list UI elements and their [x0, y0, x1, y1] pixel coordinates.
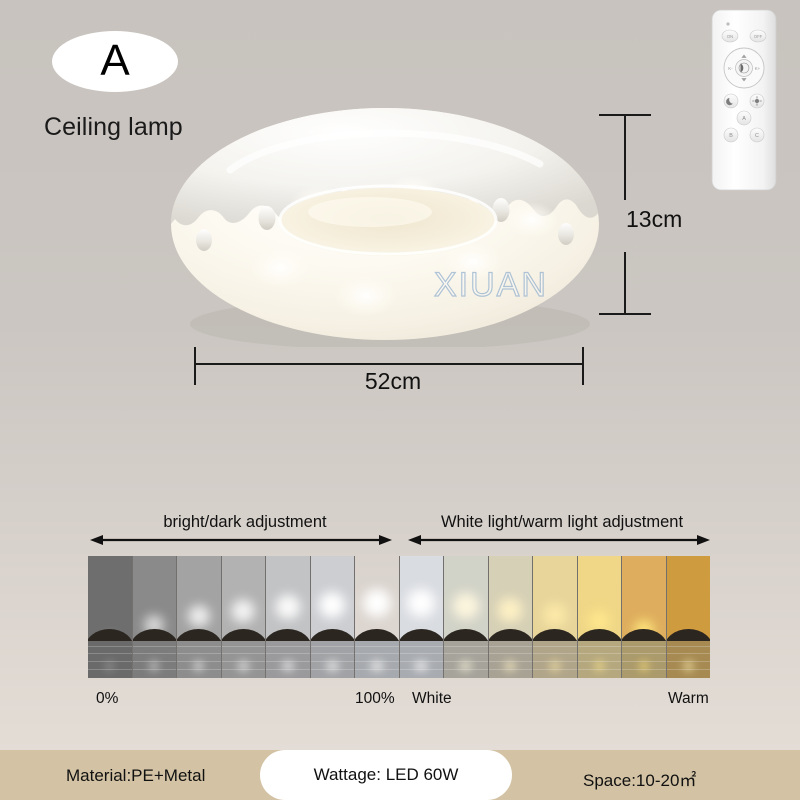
- panel-ripple: [578, 653, 622, 655]
- panel-ripple: [489, 669, 533, 671]
- panel-ripple: [266, 646, 310, 648]
- demo-panel: [311, 556, 356, 678]
- panel-ripple: [444, 661, 488, 663]
- panel-ripple: [311, 661, 355, 663]
- ceiling-lamp-image: [160, 72, 610, 347]
- demo-panel: [533, 556, 578, 678]
- panel-ripple: [533, 653, 577, 655]
- demo-panel: [578, 556, 623, 678]
- panel-ripple: [578, 661, 622, 663]
- panel-ripple: [177, 646, 221, 648]
- panel-ripple: [266, 669, 310, 671]
- panel-ripple: [88, 669, 132, 671]
- dim-width-label: 52cm: [365, 368, 421, 395]
- dim-height-label: 13cm: [626, 206, 682, 233]
- panel-ripple: [133, 669, 177, 671]
- dim-height-line-lower: [624, 252, 626, 314]
- spec-wattage-pill: Wattage: LED 60W: [260, 750, 512, 800]
- spec-space: Space:10-20㎡: [583, 766, 696, 791]
- dim-width-right-tick: [582, 347, 584, 385]
- color-temp-range-arrow: [408, 532, 710, 548]
- brightness-color-demo-strip: [88, 556, 710, 678]
- panel-ripple: [133, 653, 177, 655]
- variant-badge-letter: A: [100, 39, 129, 83]
- panel-ripple: [489, 646, 533, 648]
- spec-material: Material:PE+Metal: [66, 766, 205, 786]
- panel-ripple: [667, 646, 711, 648]
- svg-text:K+: K+: [755, 66, 761, 71]
- panel-ripple: [400, 669, 444, 671]
- svg-text:OFF: OFF: [754, 34, 763, 39]
- panel-ripple: [578, 646, 622, 648]
- panel-ripple: [133, 646, 177, 648]
- brightness-range-arrow: [90, 532, 392, 548]
- demo-panel: [667, 556, 711, 678]
- demo-panel: [266, 556, 311, 678]
- panel-sun: [359, 585, 395, 621]
- panel-ripple: [489, 653, 533, 655]
- brightness-adjustment-label: bright/dark adjustment: [163, 513, 326, 532]
- panel-ripple: [311, 646, 355, 648]
- panel-ripple: [444, 646, 488, 648]
- panel-sun: [540, 600, 570, 630]
- demo-panel: [177, 556, 222, 678]
- panel-ripple: [355, 661, 399, 663]
- caption-warm-light: Warm: [668, 690, 709, 708]
- panel-ripple: [533, 661, 577, 663]
- panel-ripple: [400, 653, 444, 655]
- caption-max-brightness: 100%: [355, 690, 395, 708]
- panel-ripple: [133, 661, 177, 663]
- panel-ripple: [489, 661, 533, 663]
- demo-panel: [489, 556, 534, 678]
- panel-ripple: [622, 653, 666, 655]
- color-temp-adjustment-label: White light/warm light adjustment: [441, 513, 683, 532]
- panel-ripple: [533, 669, 577, 671]
- panel-ripple: [88, 661, 132, 663]
- panel-ripple: [444, 653, 488, 655]
- caption-min-brightness: 0%: [96, 690, 118, 708]
- panel-ripple: [667, 669, 711, 671]
- panel-ripple: [400, 661, 444, 663]
- demo-panel: [444, 556, 489, 678]
- demo-panel: [222, 556, 267, 678]
- panel-ripple: [88, 646, 132, 648]
- panel-ripple: [266, 661, 310, 663]
- panel-ripple: [667, 661, 711, 663]
- panel-ripple: [266, 653, 310, 655]
- demo-panel: [622, 556, 667, 678]
- panel-ripple: [222, 646, 266, 648]
- panel-ripple: [622, 646, 666, 648]
- demo-panel: [88, 556, 133, 678]
- svg-text:K-: K-: [728, 66, 733, 71]
- panel-ripple: [622, 669, 666, 671]
- dim-height-line-upper: [624, 114, 626, 200]
- remote-control-image: ON OFF K- K+: [708, 8, 782, 192]
- panel-ripple: [177, 661, 221, 663]
- svg-text:B: B: [729, 133, 733, 139]
- panel-ripple: [355, 646, 399, 648]
- panel-sun: [272, 591, 304, 623]
- panel-sun: [449, 589, 483, 623]
- dim-height-bottom-tick: [599, 313, 651, 315]
- panel-ripple: [355, 669, 399, 671]
- panel-sun: [494, 594, 526, 626]
- panel-ripple: [400, 646, 444, 648]
- spec-wattage-label: Wattage: LED 60W: [314, 765, 459, 785]
- svg-text:C: C: [755, 133, 759, 139]
- dim-width-line: [194, 363, 584, 365]
- panel-ripple: [622, 661, 666, 663]
- panel-sun: [315, 588, 349, 622]
- panel-ripple: [88, 653, 132, 655]
- panel-ripple: [311, 669, 355, 671]
- caption-white-light: White: [412, 690, 452, 708]
- product-spec-sheet: A Ceiling lamp: [0, 0, 800, 800]
- panel-ripple: [177, 653, 221, 655]
- svg-text:A: A: [742, 116, 746, 122]
- panel-ripple: [444, 669, 488, 671]
- demo-panel: [355, 556, 400, 678]
- panel-ripple: [311, 653, 355, 655]
- dim-width-left-tick: [194, 347, 196, 385]
- svg-text:ON: ON: [727, 34, 733, 39]
- demo-panel: [400, 556, 445, 678]
- panel-sun: [185, 602, 213, 630]
- panel-ripple: [667, 653, 711, 655]
- panel-ripple: [355, 653, 399, 655]
- panel-ripple: [578, 669, 622, 671]
- panel-ripple: [222, 669, 266, 671]
- panel-ripple: [222, 661, 266, 663]
- demo-panel: [133, 556, 178, 678]
- panel-ripple: [533, 646, 577, 648]
- panel-ripple: [177, 669, 221, 671]
- panel-ripple: [222, 653, 266, 655]
